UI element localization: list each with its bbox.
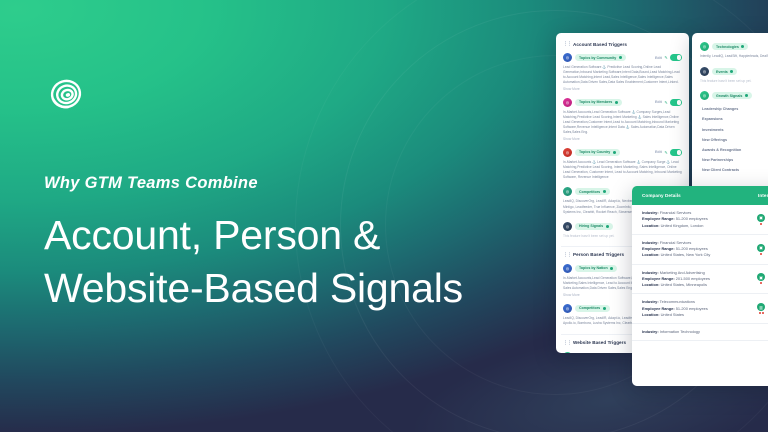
list-item[interactable]: Awards & Recognition <box>700 145 768 155</box>
status-dot-icon <box>615 101 618 104</box>
list-item[interactable]: Expansions <box>700 114 768 124</box>
avatar: ◎ <box>563 98 572 107</box>
drag-handle-icon[interactable]: ⋮⋮ <box>563 41 571 47</box>
employee-range-label: Employee Range: <box>642 216 675 221</box>
show-more-link[interactable]: Show More <box>563 137 682 141</box>
signal-badge: ▣ <box>757 244 765 255</box>
intent-signals-cell: ▣ ▥ ◈ <box>752 235 768 264</box>
trigger-pill[interactable]: Competitors <box>575 188 610 195</box>
side-block-technologies[interactable]: ◎ Technologies Intently, LeadIQ, LeadSif… <box>698 39 768 64</box>
industry-label: Industry: <box>642 299 659 304</box>
signal-dots <box>760 282 762 284</box>
trigger-pill[interactable]: Topics by Country <box>575 149 620 156</box>
employee-range-value: 51-200 employees <box>676 306 708 311</box>
location-label: Location: <box>642 312 660 317</box>
hero-section: Why GTM Teams Combine Account, Person & … <box>44 72 544 316</box>
trigger-pill[interactable]: Topics by Community <box>575 54 626 61</box>
signal-dots <box>760 223 762 225</box>
trigger-row[interactable]: ◎ Topics by Country Edit ✎ In-Market Acc… <box>561 145 684 184</box>
trigger-body: Lead Generation Software ⚓ Predictive Le… <box>563 65 682 85</box>
drag-handle-icon[interactable]: ⋮⋮ <box>563 252 571 258</box>
list-item[interactable]: New Offerings <box>700 135 768 145</box>
trigger-row[interactable]: ◎ Topics by Members Edit ✎ In-Market Acc… <box>561 95 684 145</box>
company-details-table[interactable]: Company Details Intent Signals Industry:… <box>632 186 768 386</box>
side-block-events[interactable]: ◎ Events This feature hasn't been set up… <box>698 64 768 88</box>
signal-badge: ▣ <box>757 273 765 284</box>
list-item[interactable]: New Partnerships <box>700 155 768 165</box>
table-row[interactable]: Industry: Marketing And Advertising Empl… <box>632 265 768 295</box>
section-title-account-based-triggers: ⋮⋮ Account Based Triggers <box>561 39 684 50</box>
hero-headline: Account, Person & Website-Based Signals <box>44 209 544 316</box>
toggle-switch[interactable] <box>670 149 682 156</box>
trigger-pill[interactable]: Topics by Nation <box>575 265 617 272</box>
avatar: ◎ <box>563 222 572 231</box>
show-more-link[interactable]: Show More <box>563 87 682 91</box>
edit-label[interactable]: Edit <box>655 150 662 154</box>
industry-label: Industry: <box>642 270 659 275</box>
intent-signals-cell: ▣ ▤ <box>752 205 768 234</box>
empty-state-note: This feature hasn't been set up yet. <box>700 79 768 83</box>
table-row[interactable]: Industry: Financial Services Employee Ra… <box>632 205 768 235</box>
location-value: United States <box>661 312 684 317</box>
list-item[interactable]: Leadership Changes <box>700 104 768 114</box>
employee-range-label: Employee Range: <box>642 306 675 311</box>
industry-value: Telecommunications <box>660 299 695 304</box>
intent-signals-cell: ▣ ▥ <box>752 265 768 294</box>
employee-range-value: 51-200 employees <box>676 246 708 251</box>
status-dot-icon <box>610 267 613 270</box>
side-block-body: Intently, LeadIQ, LeadSift, Happierleads… <box>700 54 768 59</box>
toggle-switch[interactable] <box>670 54 682 61</box>
side-block-growth-signals[interactable]: ◎ Growth Signals Leadership Changes Expa… <box>698 88 768 180</box>
drag-handle-icon[interactable]: ⋮⋮ <box>563 340 571 346</box>
avatar: ◎ <box>563 352 572 353</box>
column-header-intent-signals: Intent Signals <box>752 186 768 205</box>
avatar: ◎ <box>700 67 709 76</box>
product-screenshot-cluster: ⋮⋮ Account Based Triggers ◎ Topics by Co… <box>520 0 768 432</box>
avatar: ◎ <box>563 187 572 196</box>
status-dot-icon <box>613 151 616 154</box>
table-row[interactable]: Industry: Information Technology <box>632 324 768 341</box>
edit-label[interactable]: Edit <box>655 56 662 60</box>
employee-range-value: 201-500 employees <box>676 276 710 281</box>
list-item[interactable]: New Client Contracts <box>700 165 768 175</box>
employee-range-value: 51-200 employees <box>676 216 708 221</box>
pencil-icon[interactable]: ✎ <box>664 55 667 60</box>
trigger-body: In-Market Accounts,Lead Generation Softw… <box>563 110 682 136</box>
intent-signals-cell <box>752 324 768 340</box>
table-header: Company Details Intent Signals <box>632 186 768 205</box>
side-pill[interactable]: Technologies <box>712 43 748 50</box>
growth-signals-list: Leadership Changes Expansions Investment… <box>700 104 768 175</box>
toggle-switch[interactable] <box>670 99 682 106</box>
avatar: ◎ <box>563 264 572 273</box>
industry-value: Financial Services <box>660 240 692 245</box>
employee-range-label: Employee Range: <box>642 276 675 281</box>
avatar: ◎ <box>563 148 572 157</box>
status-dot-icon <box>745 94 748 97</box>
table-row[interactable]: Industry: Telecommunications Employee Ra… <box>632 294 768 324</box>
location-label: Location: <box>642 282 660 287</box>
location-label: Location: <box>642 252 660 257</box>
list-item[interactable]: Investments <box>700 124 768 134</box>
intent-signals-cell: ▥ ◈ <box>752 294 768 323</box>
avatar: ◎ <box>563 53 572 62</box>
industry-value: Marketing And Advertising <box>660 270 705 275</box>
industry-label: Industry: <box>642 240 659 245</box>
pencil-icon[interactable]: ✎ <box>664 150 667 155</box>
location-label: Location: <box>642 223 660 228</box>
trigger-pill[interactable]: Competitors <box>575 305 610 312</box>
pencil-icon[interactable]: ✎ <box>664 100 667 105</box>
avatar: ◎ <box>563 304 572 313</box>
status-dot-icon <box>603 190 606 193</box>
signal-badge: ▥ <box>757 303 765 314</box>
status-dot-icon <box>741 45 744 48</box>
avatar: ◎ <box>700 42 709 51</box>
status-dot-icon <box>619 56 622 59</box>
employee-range-label: Employee Range: <box>642 246 675 251</box>
side-pill[interactable]: Growth Signals <box>712 92 752 99</box>
trigger-row[interactable]: ◎ Topics by Community Edit ✎ Lead Genera… <box>561 50 684 95</box>
trigger-pill[interactable]: Hiring Signals <box>575 223 613 230</box>
location-value: United States, New York City <box>661 252 711 257</box>
edit-label[interactable]: Edit <box>655 100 662 104</box>
briefcase-icon[interactable]: ▣ <box>757 244 765 252</box>
table-row[interactable]: Industry: Financial Services Employee Ra… <box>632 235 768 265</box>
industry-value: Financial Services <box>660 210 692 215</box>
briefcase-icon[interactable]: ▣ <box>757 214 765 222</box>
trigger-body: In-Market Accounts ⚓ Lead Generation Sof… <box>563 160 682 180</box>
signal-dots <box>760 253 762 255</box>
location-value: United Kingdom, London <box>661 223 704 228</box>
side-pill[interactable]: Events <box>712 68 737 75</box>
briefcase-icon[interactable]: ▣ <box>757 273 765 281</box>
signal-dots <box>759 312 764 314</box>
industry-label: Industry: <box>642 210 659 215</box>
chart-icon[interactable]: ▥ <box>757 303 765 311</box>
signal-badge: ▣ <box>757 214 765 225</box>
avatar: ◎ <box>700 91 709 100</box>
spiral-logo-icon <box>44 72 88 116</box>
status-dot-icon <box>606 225 609 228</box>
column-header-company-details: Company Details <box>632 186 752 205</box>
status-dot-icon <box>603 307 606 310</box>
industry-label: Industry: <box>642 329 659 334</box>
status-dot-icon <box>730 70 733 73</box>
industry-value: Information Technology <box>660 329 700 334</box>
location-value: United States, Minneapolis <box>661 282 707 287</box>
trigger-pill[interactable]: Topics by Members <box>575 99 622 106</box>
hero-eyebrow: Why GTM Teams Combine <box>44 174 544 193</box>
